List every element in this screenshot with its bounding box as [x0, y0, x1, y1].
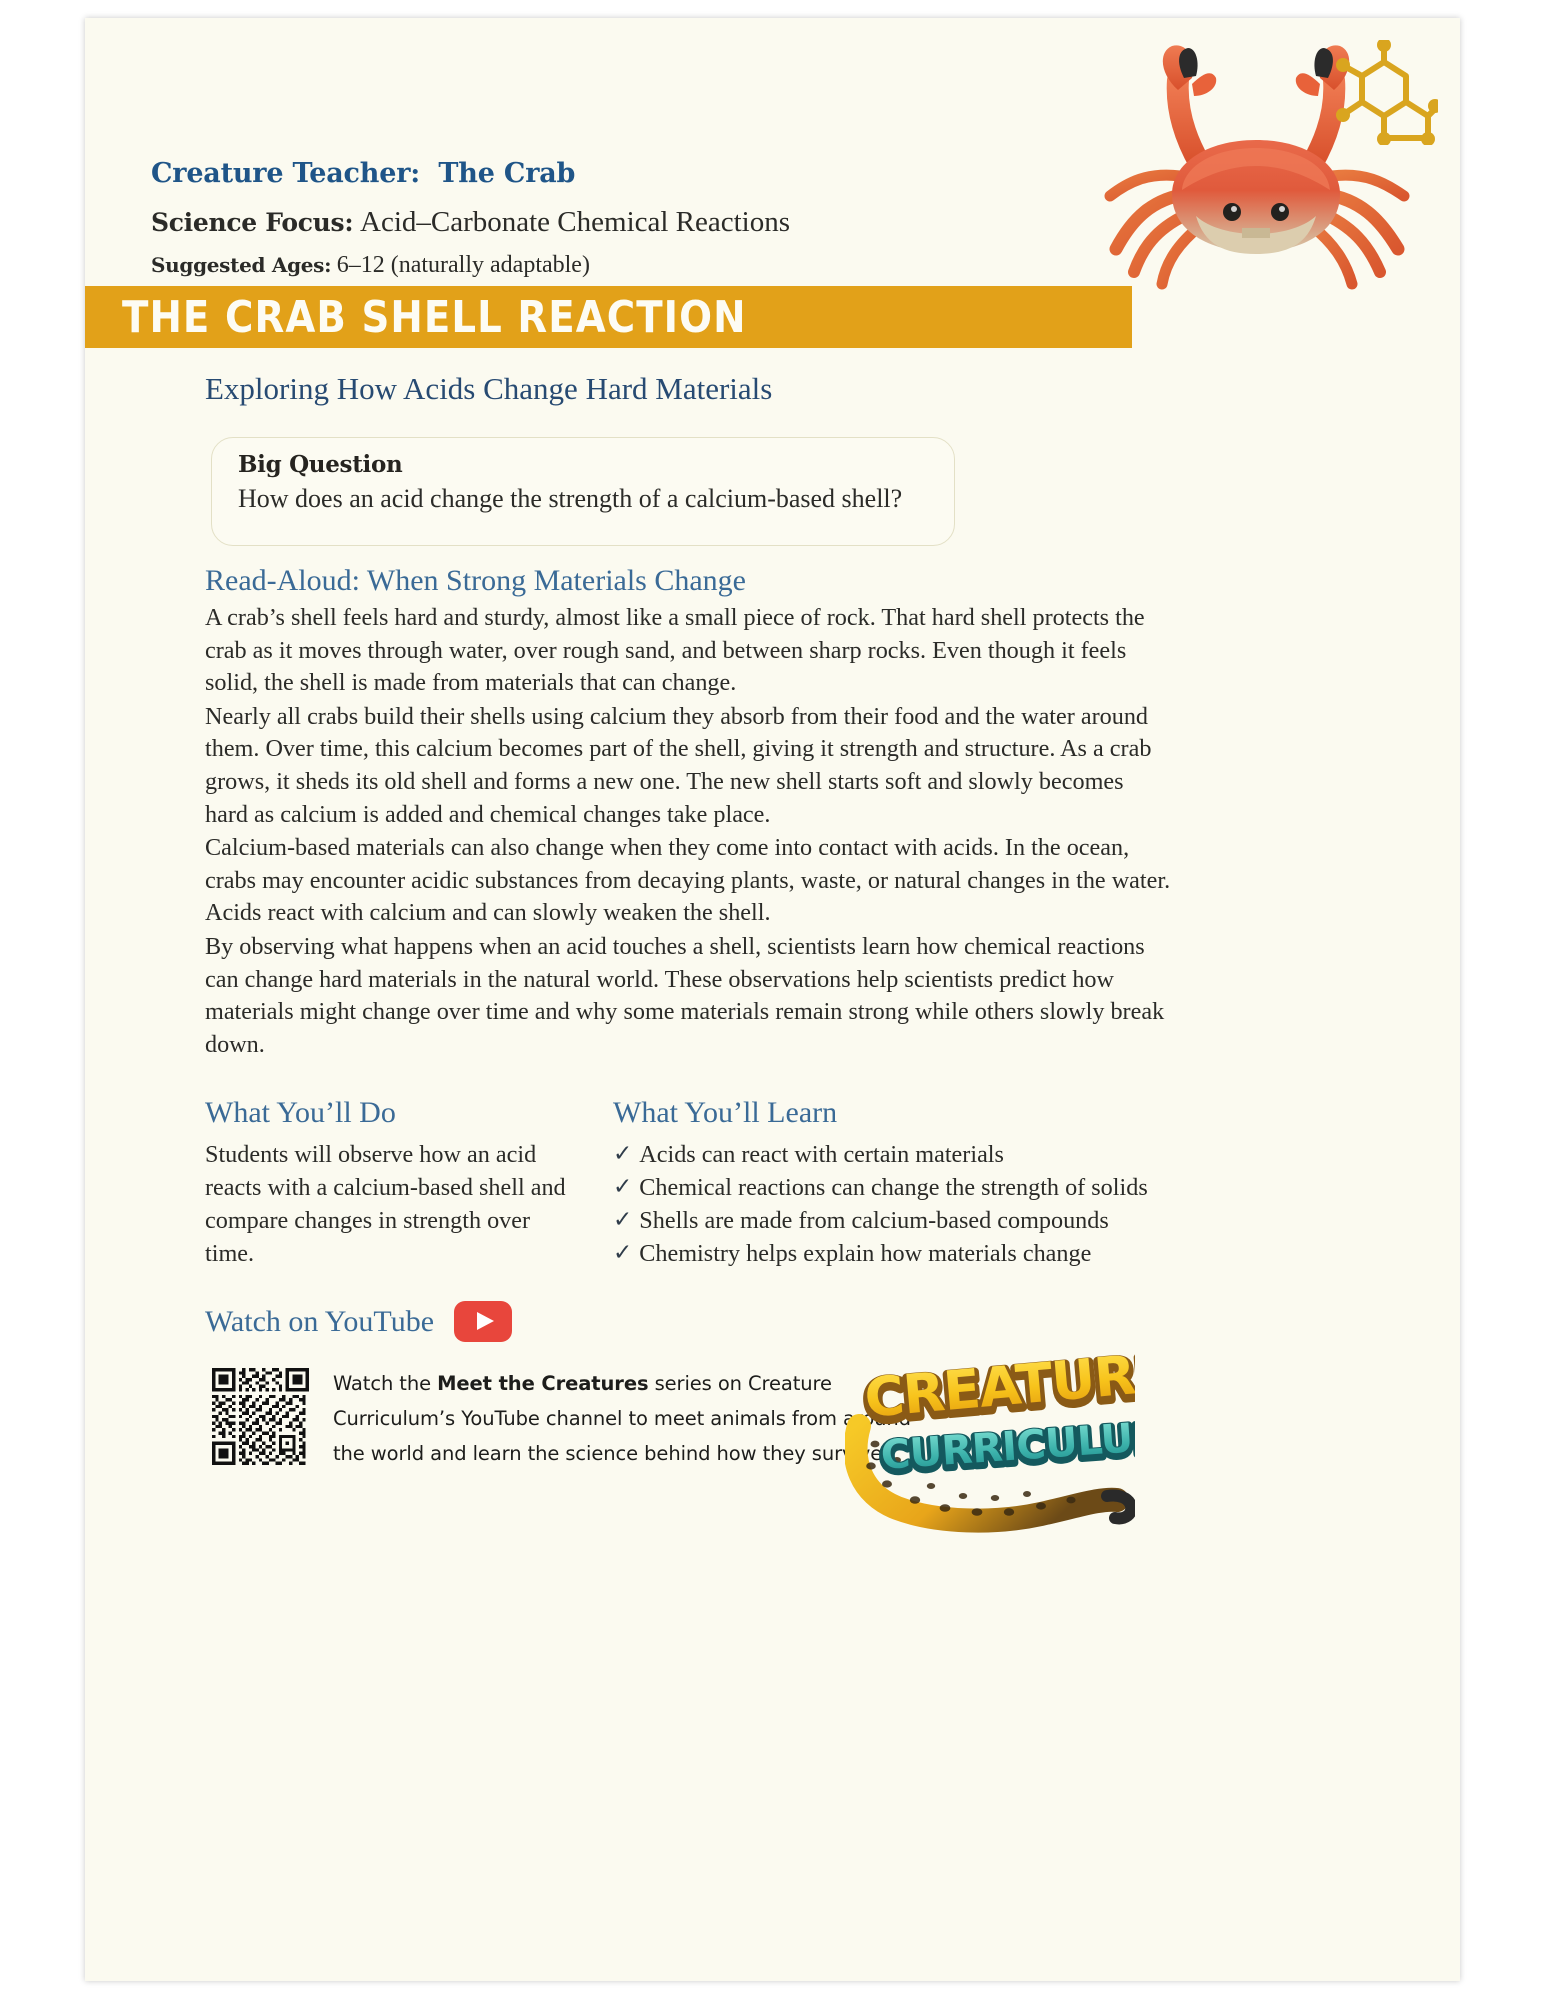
- creature-curriculum-logo: CREATURE CREATURE CURRICULUM CURRICULUM: [845, 1348, 1135, 1538]
- read-aloud-paragraph: Calcium-based materials can also change …: [205, 832, 1171, 930]
- what-youll-do-column: What You’ll Do Students will observe how…: [205, 1096, 613, 1270]
- watch-on-youtube-heading: Watch on YouTube: [205, 1305, 434, 1339]
- read-aloud-paragraph: Nearly all crabs build their shells usin…: [205, 701, 1171, 831]
- list-item: ✓ Chemical reactions can change the stre…: [613, 1171, 1171, 1204]
- read-aloud-body: A crab’s shell feels hard and sturdy, al…: [205, 602, 1171, 1062]
- creature-teacher-line: Creature Teacher: The Crab: [151, 158, 951, 189]
- science-focus-line: Science Focus: Acid–Carbonate Chemical R…: [151, 206, 951, 239]
- big-question-heading: Big Question: [238, 451, 928, 478]
- list-item-label: Acids can react with certain materials: [639, 1138, 1004, 1171]
- science-focus-label: Science Focus:: [151, 208, 353, 237]
- qr-code[interactable]: [212, 1368, 309, 1465]
- what-youll-learn-list: ✓ Acids can react with certain materials…: [613, 1138, 1171, 1270]
- banner-title: THE CRAB SHELL REACTION: [122, 292, 747, 343]
- what-youll-learn-column: What You’ll Learn ✓ Acids can react with…: [613, 1096, 1171, 1270]
- read-aloud-paragraph: A crab’s shell feels hard and sturdy, al…: [205, 602, 1171, 700]
- what-youll-do-text: Students will observe how an acid reacts…: [205, 1138, 575, 1270]
- objectives-columns: What You’ll Do Students will observe how…: [205, 1096, 1171, 1270]
- what-youll-learn-heading: What You’ll Learn: [613, 1096, 1171, 1130]
- play-triangle-icon: [477, 1312, 494, 1330]
- list-item: ✓ Acids can react with certain materials: [613, 1138, 1171, 1171]
- list-item-label: Chemistry helps explain how materials ch…: [639, 1237, 1091, 1270]
- check-icon: ✓: [613, 1237, 632, 1270]
- check-icon: ✓: [613, 1138, 632, 1171]
- molecule-icon: [1328, 40, 1438, 145]
- check-icon: ✓: [613, 1204, 632, 1237]
- big-question-card: Big Question How does an acid change the…: [211, 437, 955, 546]
- suggested-ages-value: 6–12 (naturally adaptable): [337, 252, 590, 278]
- read-aloud-heading: Read-Aloud: When Strong Materials Change: [205, 564, 746, 598]
- check-icon: ✓: [613, 1171, 632, 1204]
- list-item-label: Chemical reactions can change the streng…: [639, 1171, 1147, 1204]
- watch-on-youtube-row: Watch on YouTube: [205, 1301, 512, 1342]
- science-focus-value: Acid–Carbonate Chemical Reactions: [360, 206, 790, 238]
- suggested-ages-label: Suggested Ages:: [151, 253, 331, 277]
- list-item: ✓ Shells are made from calcium-based com…: [613, 1204, 1171, 1237]
- youtube-blurb-before: Watch the: [333, 1372, 437, 1395]
- suggested-ages-line: Suggested Ages: 6–12 (naturally adaptabl…: [151, 252, 951, 279]
- page-subtitle: Exploring How Acids Change Hard Material…: [205, 371, 772, 407]
- masthead-text: Creature Teacher: The Crab Science Focus…: [151, 158, 951, 279]
- youtube-play-icon[interactable]: [454, 1301, 512, 1342]
- youtube-blurb-series-name: Meet the Creatures: [437, 1372, 648, 1395]
- big-question-text: How does an acid change the strength of …: [238, 484, 928, 514]
- youtube-blurb: Watch the Meet the Creatures series on C…: [333, 1366, 913, 1471]
- read-aloud-paragraph: By observing what happens when an acid t…: [205, 931, 1171, 1061]
- what-youll-do-heading: What You’ll Do: [205, 1096, 613, 1130]
- list-item-label: Shells are made from calcium-based compo…: [639, 1204, 1109, 1237]
- title-banner: THE CRAB SHELL REACTION: [85, 286, 1132, 348]
- worksheet-page: Creature Teacher: The Crab Science Focus…: [85, 18, 1460, 1981]
- list-item: ✓ Chemistry helps explain how materials …: [613, 1237, 1171, 1270]
